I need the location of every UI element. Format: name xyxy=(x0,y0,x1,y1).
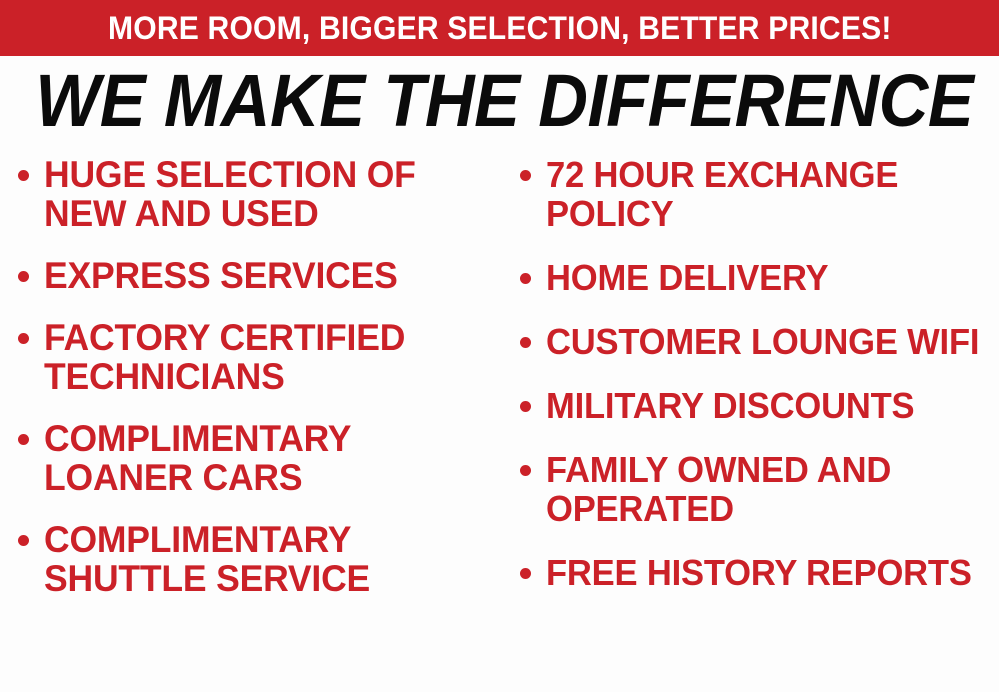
list-item: COMPLIMENTARY SHUTTLE SERVICE xyxy=(18,520,500,598)
list-item-label: COMPLIMENTARY LOANER CARS xyxy=(44,419,482,497)
list-item: CUSTOMER LOUNGE WIFI xyxy=(520,322,999,361)
bullet-dot-icon xyxy=(18,434,29,445)
list-item-label: COMPLIMENTARY SHUTTLE SERVICE xyxy=(44,520,482,598)
bullet-dot-icon xyxy=(520,465,531,476)
features-column-left: HUGE SELECTION OF NEW AND USED EXPRESS S… xyxy=(0,155,500,692)
page-title: WE MAKE THE DIFFERENCE xyxy=(35,62,973,140)
list-item: HUGE SELECTION OF NEW AND USED xyxy=(18,155,500,233)
list-item-label: FREE HISTORY REPORTS xyxy=(546,553,981,592)
features-columns: HUGE SELECTION OF NEW AND USED EXPRESS S… xyxy=(0,155,999,692)
bullet-dot-icon xyxy=(520,337,531,348)
list-item-label: FAMILY OWNED AND OPERATED xyxy=(546,450,981,528)
bullet-dot-icon xyxy=(18,271,29,282)
bullet-dot-icon xyxy=(520,170,531,181)
bullet-dot-icon xyxy=(18,333,29,344)
list-item: FACTORY CERTIFIED TECHNICIANS xyxy=(18,318,500,396)
bullet-dot-icon xyxy=(520,568,531,579)
list-item-label: CUSTOMER LOUNGE WIFI xyxy=(546,322,981,361)
list-item: 72 HOUR EXCHANGE POLICY xyxy=(520,155,999,233)
banner-headline-text: MORE ROOM, BIGGER SELECTION, BETTER PRIC… xyxy=(108,12,892,44)
list-item: FREE HISTORY REPORTS xyxy=(520,553,999,592)
list-item-label: 72 HOUR EXCHANGE POLICY xyxy=(546,155,981,233)
list-item-label: FACTORY CERTIFIED TECHNICIANS xyxy=(44,318,482,396)
bullet-dot-icon xyxy=(18,535,29,546)
bullet-dot-icon xyxy=(18,170,29,181)
top-banner: MORE ROOM, BIGGER SELECTION, BETTER PRIC… xyxy=(0,0,999,56)
list-item-label: MILITARY DISCOUNTS xyxy=(546,386,981,425)
features-column-right: 72 HOUR EXCHANGE POLICY HOME DELIVERY CU… xyxy=(500,155,999,692)
list-item-label: EXPRESS SERVICES xyxy=(44,256,482,295)
list-item-label: HOME DELIVERY xyxy=(546,258,981,297)
list-item: EXPRESS SERVICES xyxy=(18,256,500,295)
list-item: COMPLIMENTARY LOANER CARS xyxy=(18,419,500,497)
promotional-poster: MORE ROOM, BIGGER SELECTION, BETTER PRIC… xyxy=(0,0,999,692)
list-item: HOME DELIVERY xyxy=(520,258,999,297)
bullet-dot-icon xyxy=(520,273,531,284)
list-item: MILITARY DISCOUNTS xyxy=(520,386,999,425)
list-item-label: HUGE SELECTION OF NEW AND USED xyxy=(44,155,482,233)
headline-container: WE MAKE THE DIFFERENCE xyxy=(0,62,999,140)
list-item: FAMILY OWNED AND OPERATED xyxy=(520,450,999,528)
bullet-dot-icon xyxy=(520,401,531,412)
